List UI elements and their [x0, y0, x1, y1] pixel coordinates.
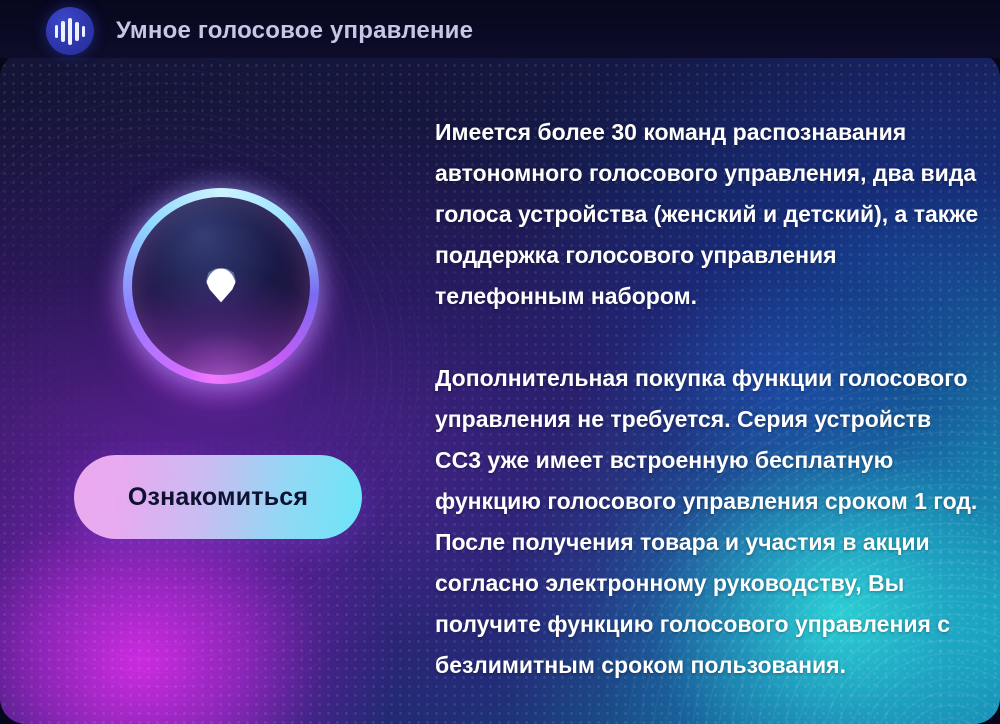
waveform-bar	[82, 26, 85, 37]
waveform-bar	[75, 22, 78, 41]
location-pin-icon	[206, 268, 236, 302]
waveform-bar	[55, 25, 58, 38]
voice-assistant-orb	[123, 188, 319, 384]
orb-inner-sphere	[132, 197, 310, 375]
learn-more-button[interactable]: Ознакомиться	[74, 455, 362, 539]
voice-waveform-icon	[46, 7, 94, 55]
promo-card-stage: Умное голосовое управление Ознакомиться …	[0, 0, 1000, 724]
description-block: Имеется более 30 команд распознавания ав…	[435, 112, 980, 686]
page-title: Умное голосовое управление	[116, 17, 473, 45]
waveform-bar	[68, 18, 71, 45]
waveform-bar	[61, 21, 64, 42]
paragraph-features: Имеется более 30 команд распознавания ав…	[435, 112, 980, 317]
header-bar: Умное голосовое управление	[0, 0, 1000, 62]
paragraph-purchase: Дополнительная покупка функции голосовог…	[435, 358, 980, 686]
